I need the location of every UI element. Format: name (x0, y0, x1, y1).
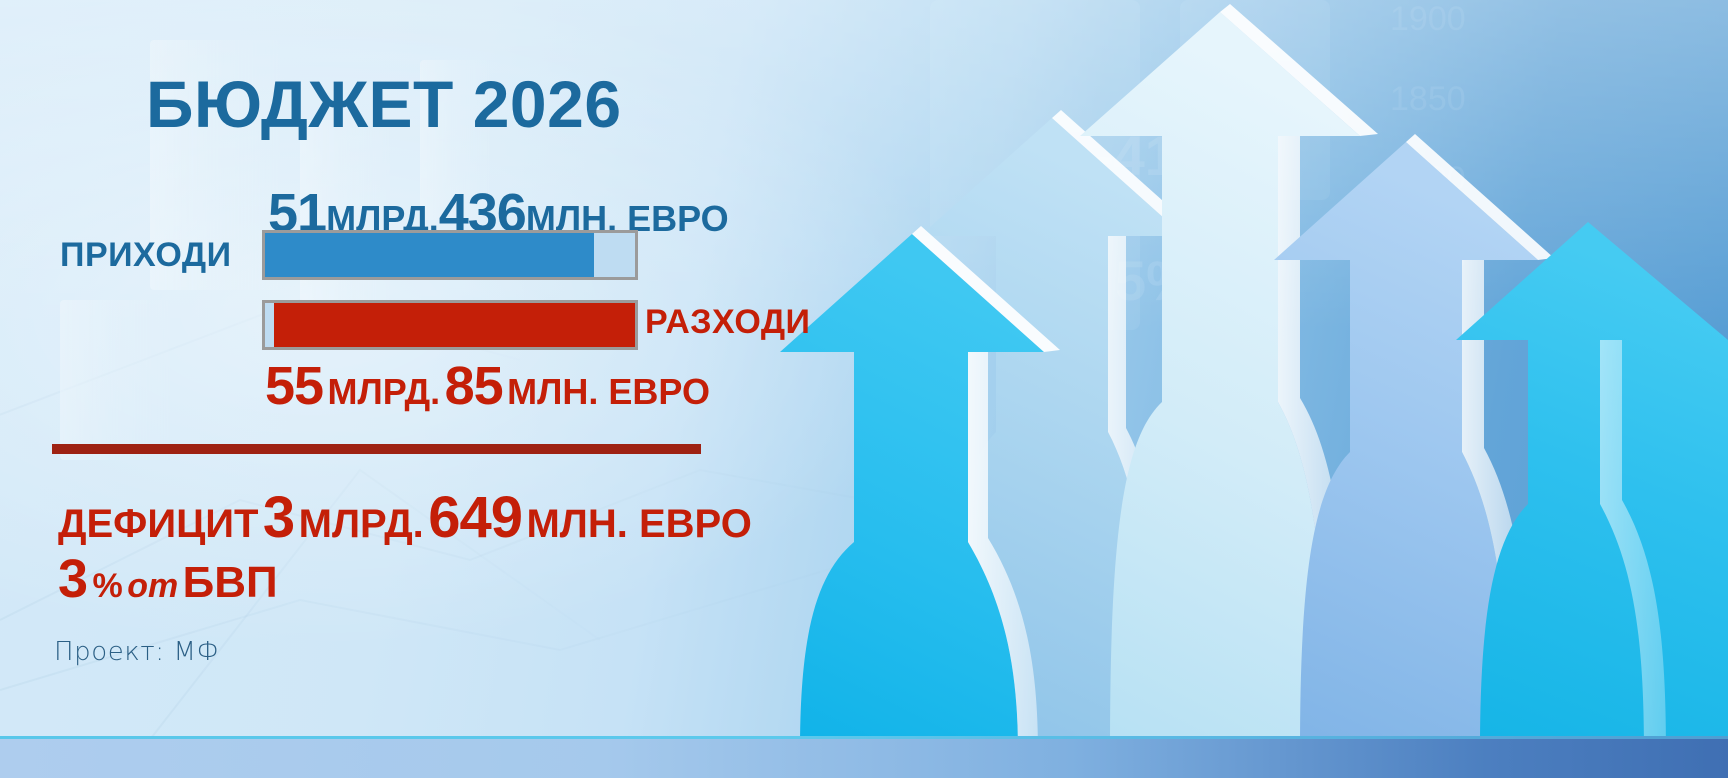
revenues-bar-fill (265, 233, 594, 277)
expenditures-value: 55 МЛРД. 85 МЛН. ЕВРО (265, 355, 710, 417)
gdp-percent-value: 3 (58, 549, 88, 609)
deficit-line: ДЕФИЦИТ 3 МЛРД. 649 МЛН. ЕВРО (58, 484, 752, 551)
expenditures-bar-track (262, 300, 638, 350)
rising-arrows-graphic (780, 0, 1728, 752)
expenditures-millions: 85 (445, 356, 503, 416)
deficit-millions: 649 (428, 485, 522, 550)
deficit-label: ДЕФИЦИТ (58, 502, 258, 546)
revenues-bar-track (262, 230, 638, 280)
gdp-base-label: БВП (183, 558, 278, 607)
deficit-millions-unit: МЛН. ЕВРО (526, 502, 751, 546)
expenditures-billions-unit: МЛРД. (328, 371, 441, 412)
expenditures-label: РАЗХОДИ (645, 303, 811, 342)
gdp-percent-sign: % (93, 567, 123, 605)
deficit-billions-unit: МЛРД. (299, 502, 424, 546)
deficit-divider (52, 444, 701, 454)
page-title: БЮДЖЕТ 2026 (146, 66, 622, 142)
bottom-band (0, 739, 1728, 778)
deficit-gdp-line: 3 % от БВП (58, 548, 278, 610)
expenditures-millions-unit: МЛН. ЕВРО (507, 371, 710, 412)
deficit-billions: 3 (263, 485, 294, 550)
gdp-preposition: от (127, 567, 178, 605)
infographic-canvas: 1900 1850 1800 1750 1700 -4102 5% (0, 0, 1728, 778)
revenues-label: ПРИХОДИ (60, 236, 232, 275)
expenditures-billions: 55 (265, 356, 323, 416)
source-credit: Проект: МФ (54, 637, 220, 667)
expenditures-bar-fill (274, 303, 635, 347)
